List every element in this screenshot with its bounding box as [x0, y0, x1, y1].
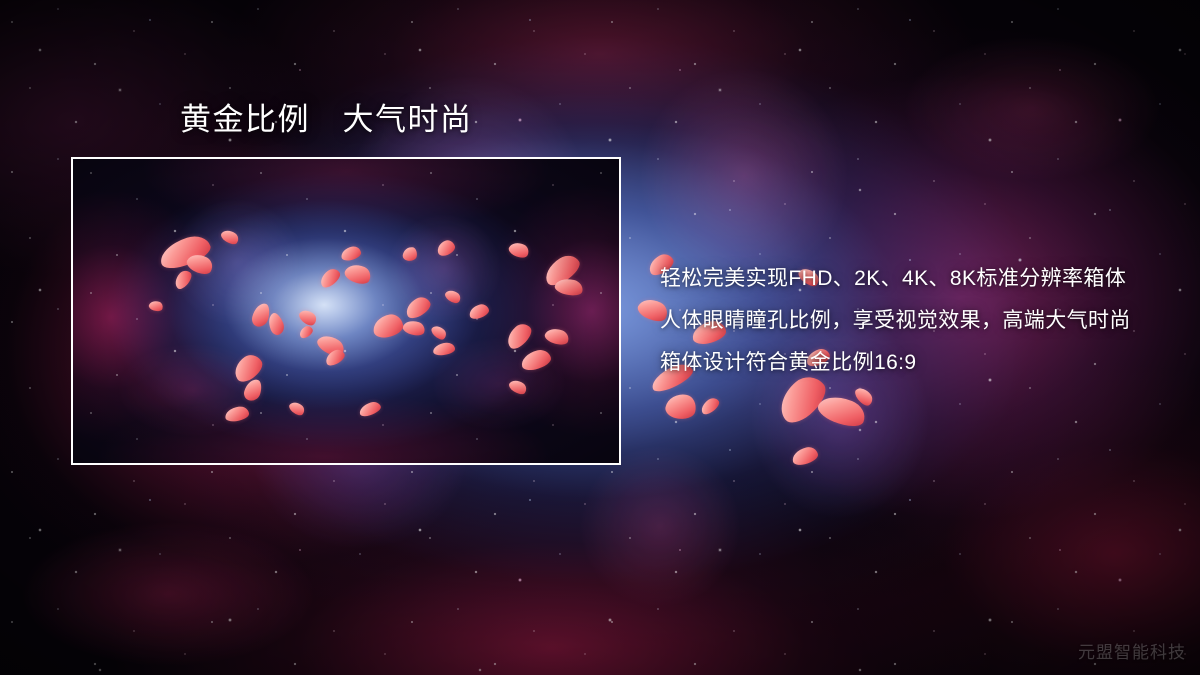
petal-shape: [853, 385, 876, 409]
petal-shape: [815, 390, 869, 432]
body-line: 轻松完美实现FHD、2K、4K、8K标准分辨率箱体: [660, 258, 1180, 300]
petal-shape: [790, 445, 819, 467]
preview-panel[interactable]: [71, 157, 621, 465]
petal-shape: [698, 395, 721, 416]
watermark-label: 元盟智能科技: [1078, 638, 1186, 663]
presentation-slide: 黄金比例 大气时尚: [0, 0, 1200, 675]
body-text-block: 轻松完美实现FHD、2K、4K、8K标准分辨率箱体 人体眼睛瞳孔比例，享受视觉效…: [660, 258, 1180, 384]
petal-shape: [664, 391, 699, 422]
body-line: 箱体设计符合黄金比例16:9: [660, 342, 1180, 384]
panel-vignette: [73, 159, 619, 463]
body-line: 人体眼睛瞳孔比例，享受视觉效果，高端大气时尚: [660, 300, 1180, 342]
slide-title: 黄金比例 大气时尚: [180, 101, 473, 139]
